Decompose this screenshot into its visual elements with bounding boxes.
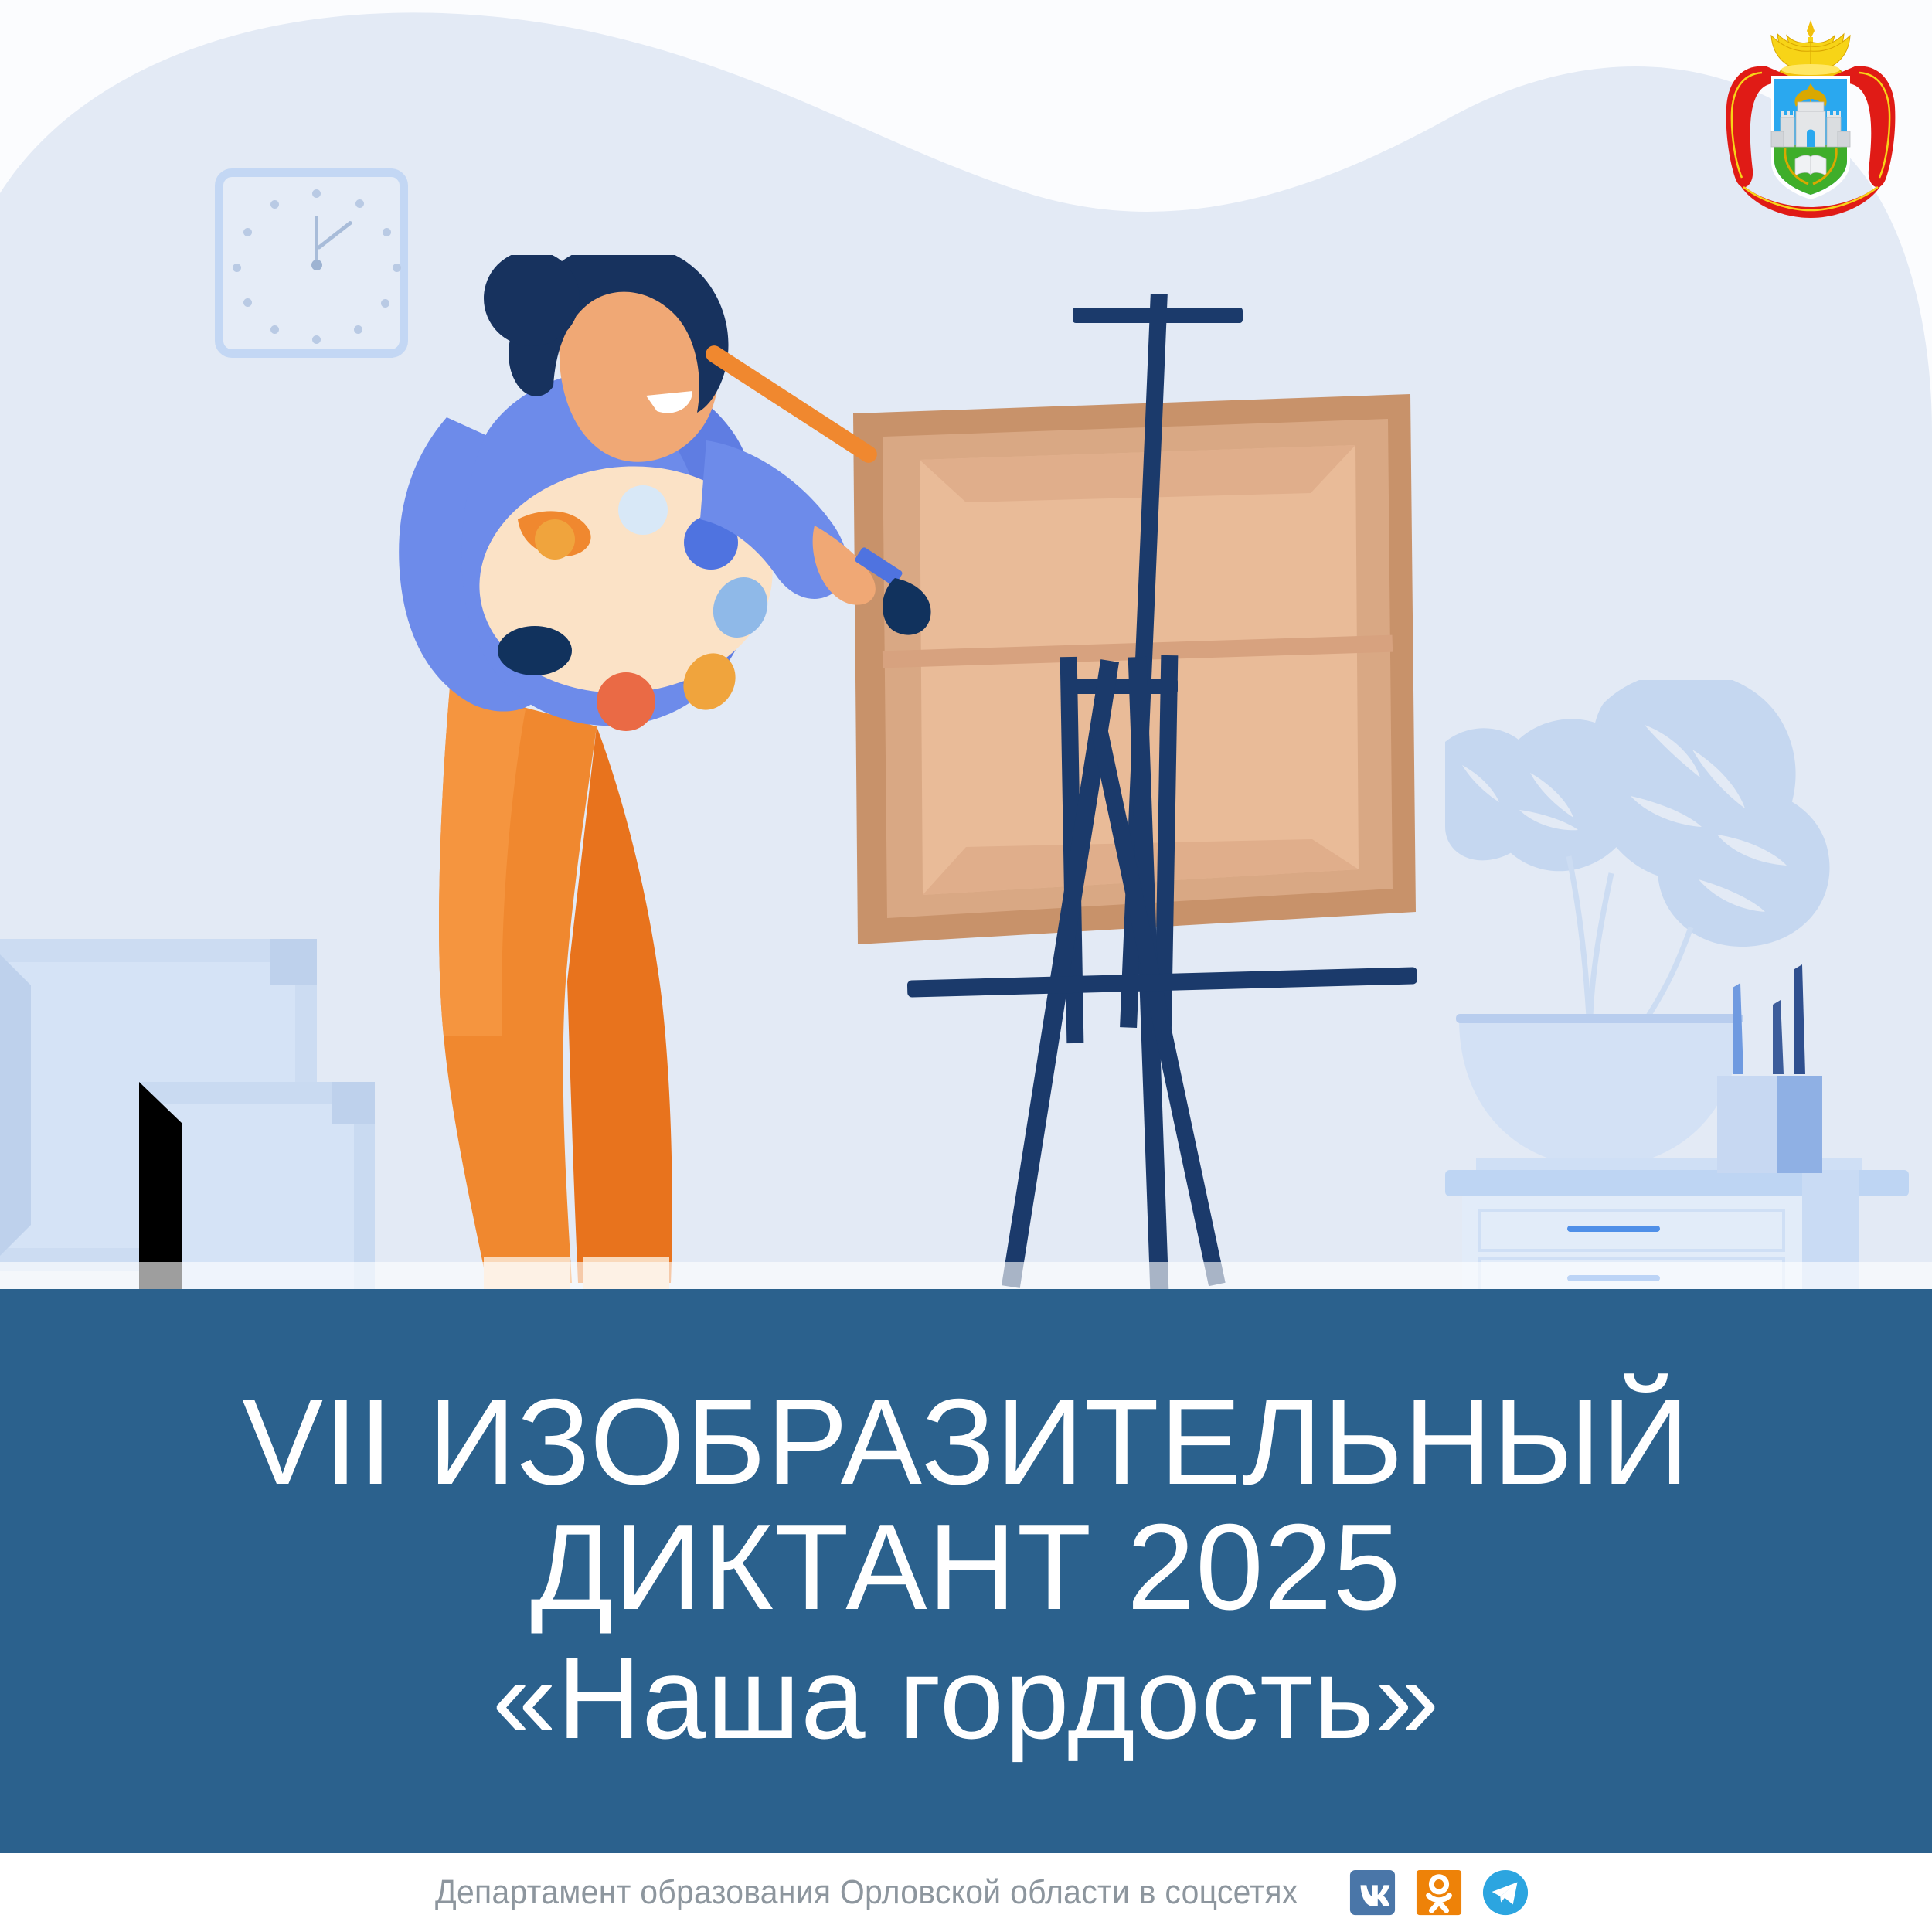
telegram-icon[interactable] <box>1481 1869 1529 1917</box>
banner-subtitle: «Наша гордость» <box>492 1630 1440 1767</box>
shield <box>1771 76 1850 199</box>
fade-strip <box>0 1262 1932 1291</box>
cabinet-and-plant-group <box>1445 680 1909 1291</box>
open-book-icon <box>1795 155 1826 175</box>
clock-minute-hand <box>315 216 318 264</box>
trousers <box>439 688 672 1283</box>
illustration-scene <box>0 0 1932 1291</box>
wall-clock <box>215 168 408 358</box>
banner-title-line1: VII ИЗОБРАЗИТЕЛЬНЫЙ <box>242 1380 1690 1505</box>
odnoklassniki-icon[interactable] <box>1415 1869 1463 1917</box>
coat-of-arms-oryol-oblast <box>1722 15 1900 228</box>
banner-title-line2: ДИКТАНТ 2025 <box>530 1505 1401 1630</box>
pencil-cups <box>1717 964 1822 1173</box>
vk-icon[interactable] <box>1349 1869 1396 1917</box>
title-banner: VII ИЗОБРАЗИТЕЛЬНЫЙ ДИКТАНТ 2025 «Наша г… <box>0 1289 1932 1853</box>
easel-with-canvas <box>842 294 1507 1291</box>
artist-figure <box>394 255 935 1291</box>
footer-label: Департамент образования Орловской област… <box>435 1873 1298 1912</box>
clock-hour-hand <box>316 220 352 250</box>
poster-root: VII ИЗОБРАЗИТЕЛЬНЫЙ ДИКТАНТ 2025 «Наша г… <box>0 0 1932 1932</box>
crown-icon <box>1771 20 1850 80</box>
stacked-boxes <box>0 916 417 1291</box>
footer-bar: Департамент образования Орловской област… <box>0 1853 1932 1932</box>
